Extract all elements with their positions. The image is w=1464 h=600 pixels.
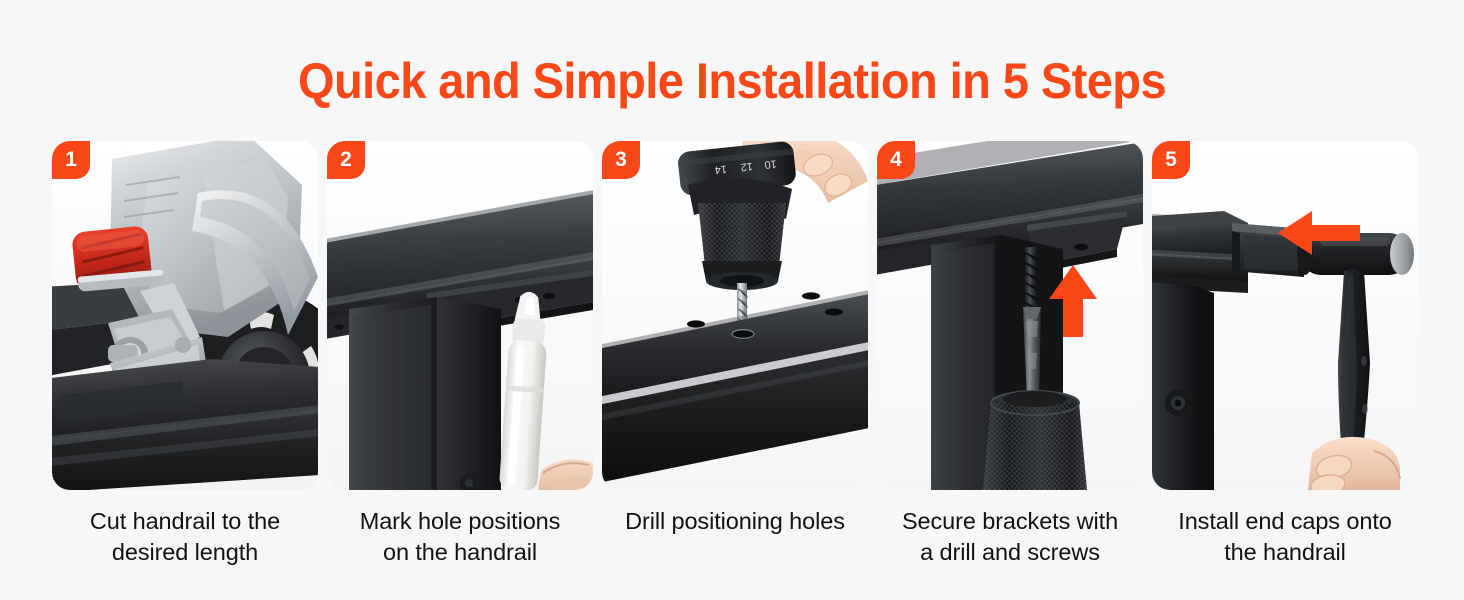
step-image-4: 4 [877,141,1143,490]
step-caption-4-line2: a drill and screws [920,539,1100,565]
svg-text:14: 14 [714,163,727,176]
drill-positioning-holes-illustration: 10 12 14 [602,141,868,490]
step-badge-4: 4 [877,141,915,179]
step-caption-4-line1: Secure brackets with [902,508,1118,534]
step-caption-3: Drill positioning holes [599,506,871,537]
scene-drill-holes: 10 12 14 [602,141,868,490]
step-image-1: 1 [52,141,318,490]
svg-text:12: 12 [740,160,753,173]
step-caption-2-line1: Mark hole positions [360,508,561,534]
step-badge-2: 2 [327,141,365,179]
step-caption-2: Mark hole positions on the handrail [324,506,596,568]
step-image-5: 5 [1152,141,1418,490]
scene-secure-brackets [877,141,1143,490]
step-card-3: 10 12 14 [602,141,868,568]
scene-circular-saw [52,141,318,490]
install-end-caps-illustration [1152,141,1418,490]
step-caption-4: Secure brackets with a drill and screws [874,506,1146,568]
step-badge-5: 5 [1152,141,1190,179]
svg-text:10: 10 [764,157,777,170]
step-caption-5-line2: the handrail [1224,539,1346,565]
step-caption-2-line2: on the handrail [383,539,537,565]
page-title: Quick and Simple Installation in 5 Steps [44,52,1420,110]
step-caption-3-line1: Drill positioning holes [625,508,845,534]
step-caption-5-line1: Install end caps onto [1178,508,1391,534]
step-caption-1-line2: desired length [112,539,258,565]
step-card-2: 2 Mark hole positions on the handrail [327,141,593,568]
step-card-5: 5 Install end caps onto the handrail [1152,141,1418,568]
step-badge-3: 3 [602,141,640,179]
installation-steps-infographic: Quick and Simple Installation in 5 Steps [0,0,1464,600]
step-caption-1: Cut handrail to the desired length [49,506,321,568]
step-badge-1: 1 [52,141,90,179]
step-image-3: 10 12 14 [602,141,868,490]
marker-pen-illustration [327,141,593,490]
scene-end-cap-mallet [1152,141,1418,490]
secure-brackets-illustration [877,141,1143,490]
step-image-2: 2 [327,141,593,490]
steps-row: 1 Cut handrail to the desired length [52,141,1412,568]
step-caption-1-line1: Cut handrail to the [90,508,280,534]
step-caption-5: Install end caps onto the handrail [1149,506,1421,568]
step-card-4: 4 Secure brackets with a drill and screw… [877,141,1143,568]
scene-marker-pen [327,141,593,490]
circular-saw-illustration [52,141,318,490]
step-card-1: 1 Cut handrail to the desired length [52,141,318,568]
